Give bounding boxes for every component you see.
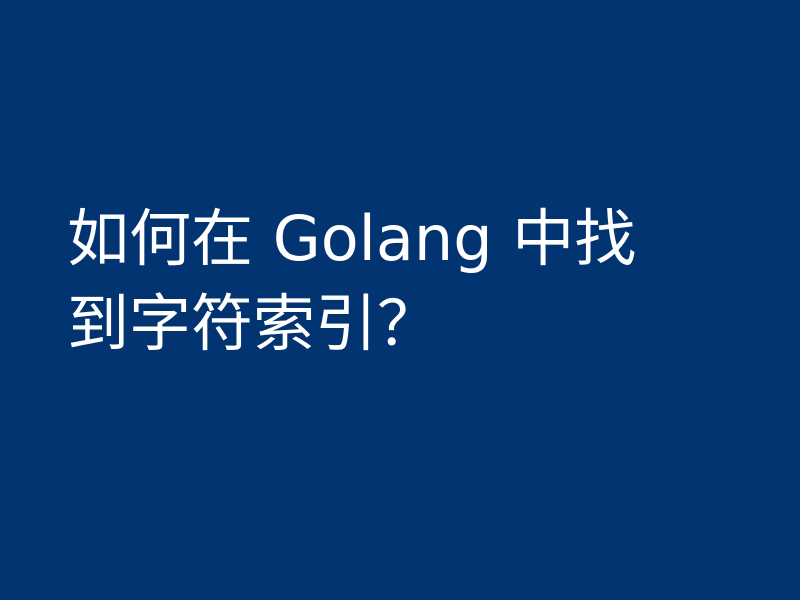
page-title: 如何在 Golang 中找到字符索引？ — [67, 196, 667, 366]
title-block: 如何在 Golang 中找到字符索引？ — [67, 196, 667, 366]
title-slide: 如何在 Golang 中找到字符索引？ — [0, 0, 800, 600]
